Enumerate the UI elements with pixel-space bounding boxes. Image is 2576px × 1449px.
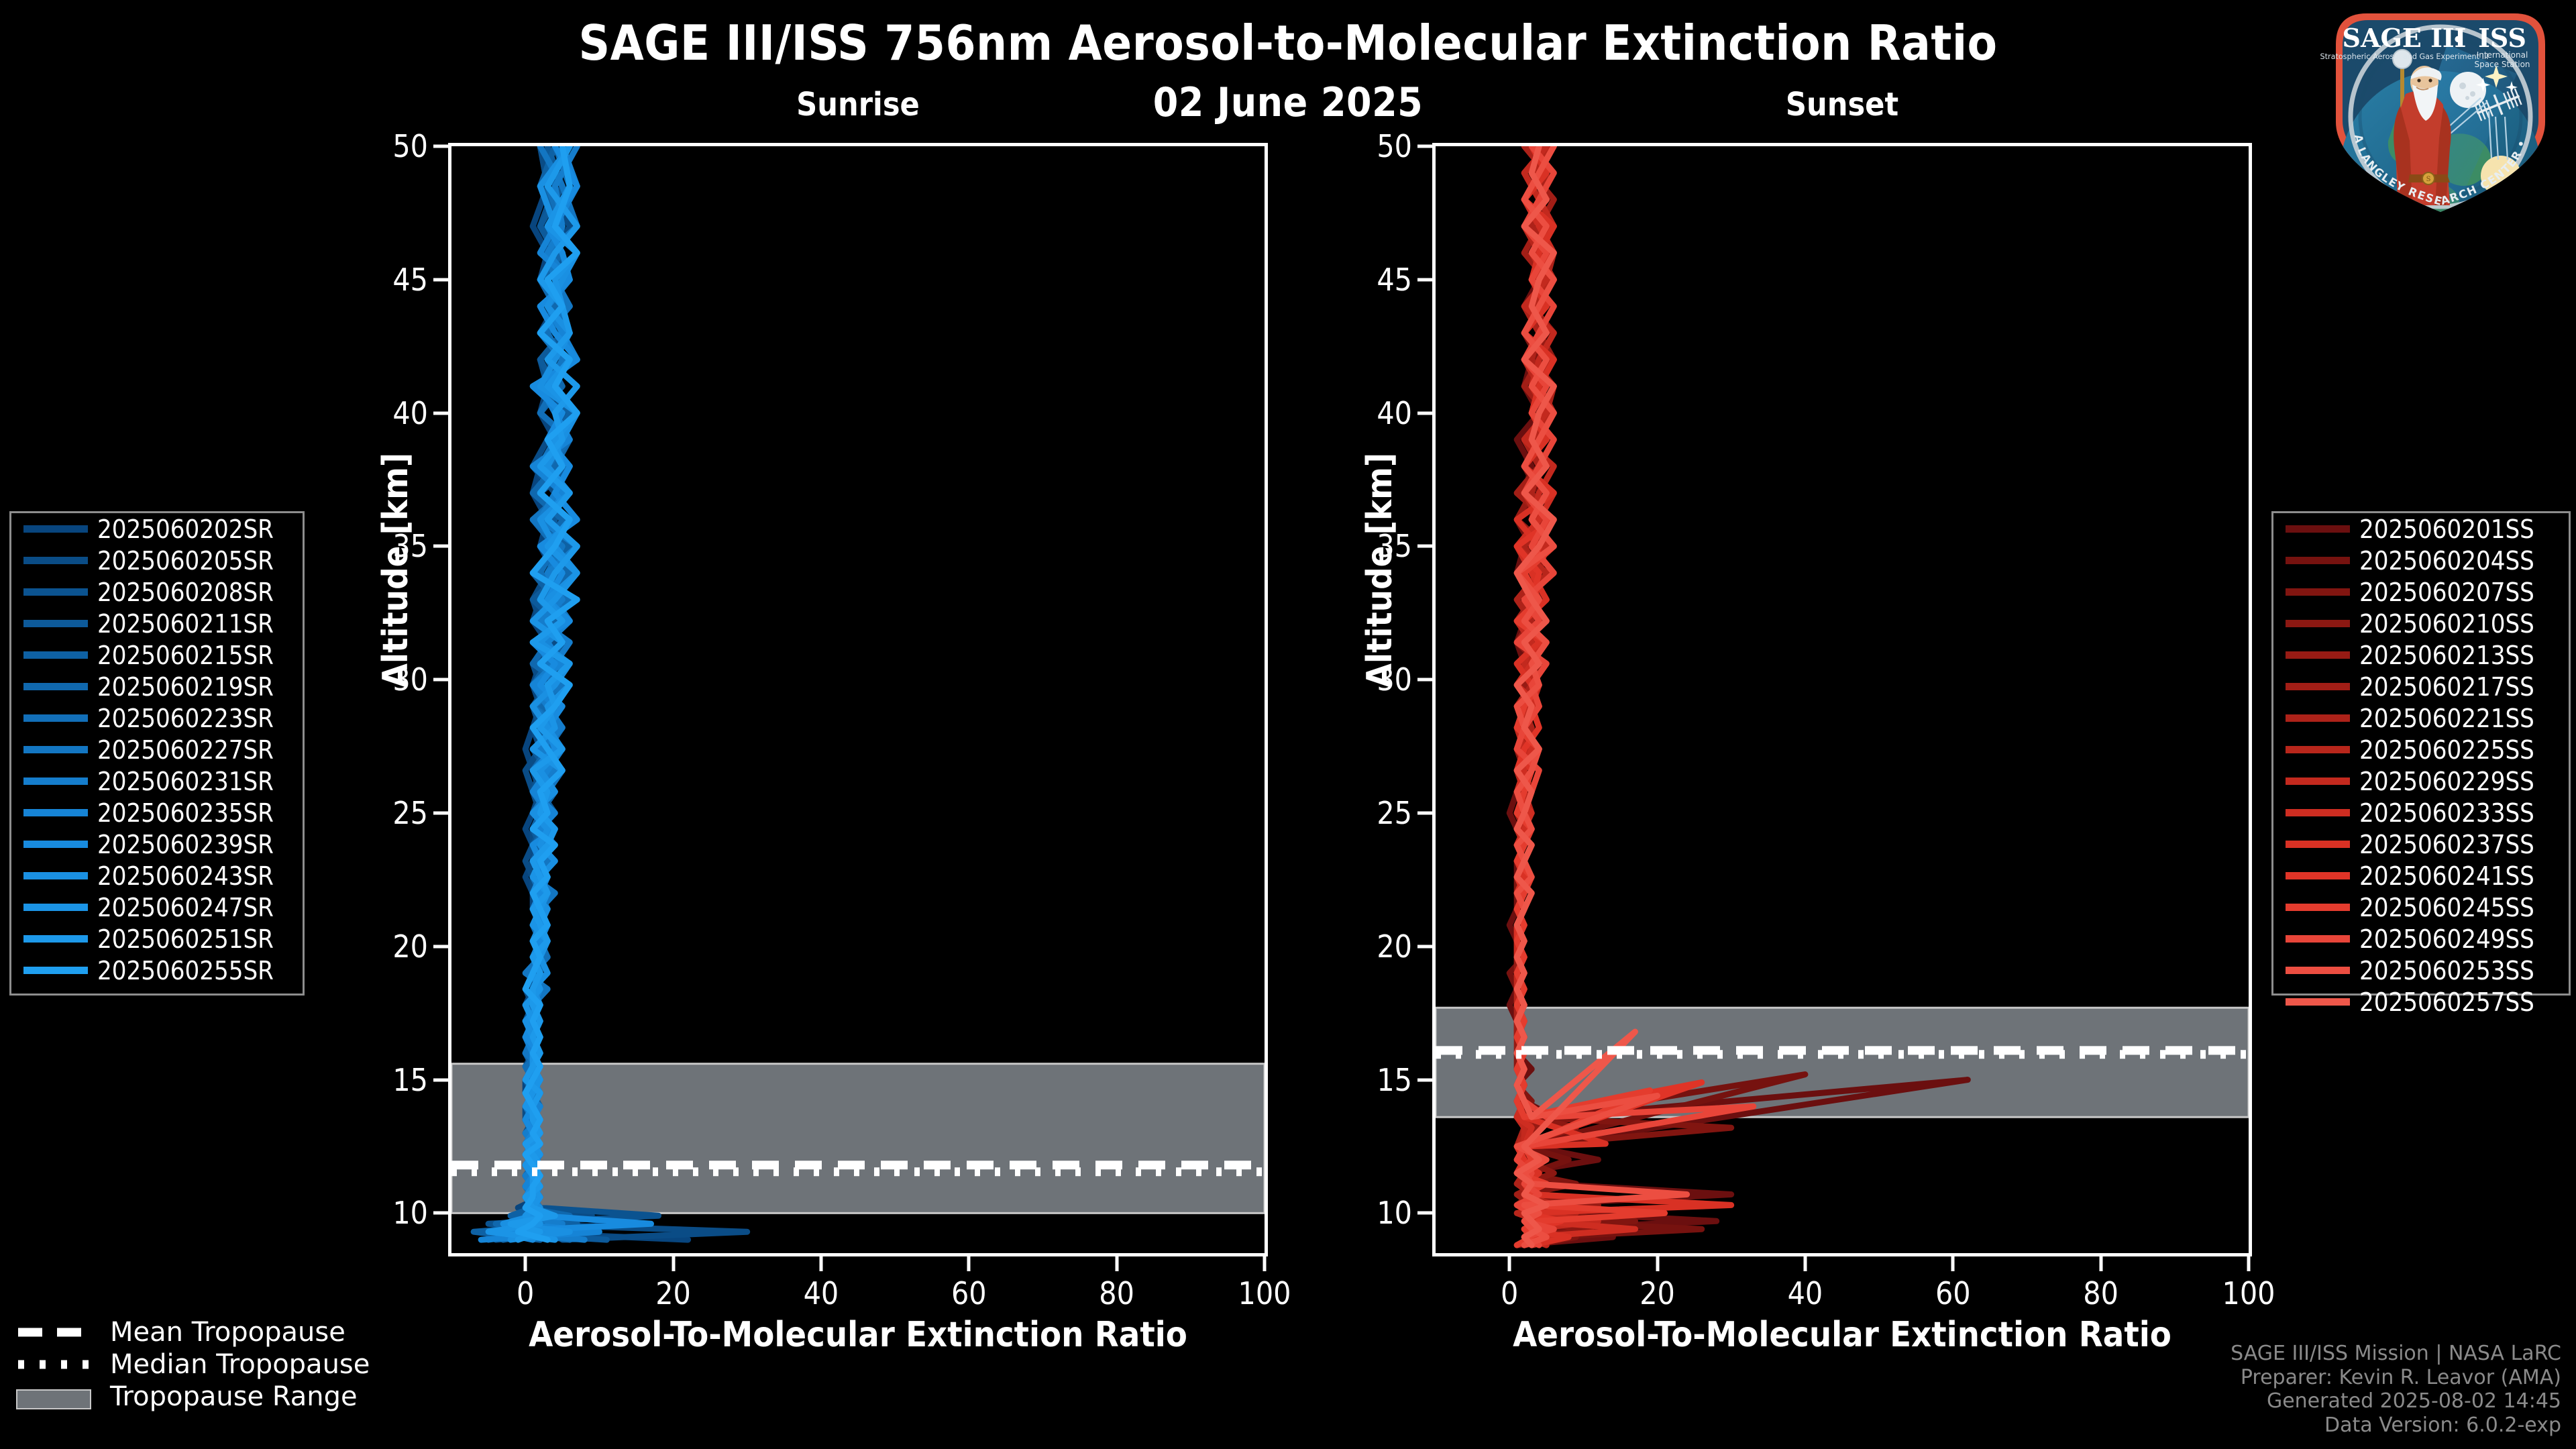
legend-item[interactable]: 2025060251SR — [11, 923, 303, 955]
credit-version: Data Version: 6.0.2-exp — [2231, 1413, 2561, 1437]
legend-color-swatch — [23, 777, 88, 785]
legend-item-label: 2025060235SR — [97, 798, 274, 828]
panel-label-sunrise: Sunrise — [448, 86, 1268, 123]
legend-item[interactable]: 2025060211SR — [11, 608, 303, 639]
legend-item-label: 2025060207SS — [2359, 578, 2534, 607]
legend-item[interactable]: 2025060247SR — [11, 892, 303, 923]
legend-item[interactable]: 2025060219SR — [11, 671, 303, 702]
legend-item-label: 2025060219SR — [97, 672, 274, 702]
x-tick-label: 80 — [2034, 1275, 2168, 1311]
x-tick-mark — [967, 1256, 971, 1271]
legend-item-label: 2025060233SS — [2359, 798, 2534, 828]
legend-color-swatch — [23, 557, 88, 564]
legend-color-swatch — [2286, 872, 2350, 879]
x-tick-label: 20 — [1591, 1275, 1725, 1311]
y-tick-mark — [1417, 545, 1432, 548]
median-tropopause-label: Median Tropopause — [110, 1349, 370, 1380]
y-tick-mark — [1417, 1078, 1432, 1081]
legend-item-label: 2025060257SS — [2359, 987, 2534, 1017]
logo-subtitle-iss-1: International — [2477, 50, 2528, 60]
y-tick-label: 50 — [1318, 128, 1412, 164]
legend-color-swatch — [23, 904, 88, 911]
legend-item[interactable]: 2025060215SR — [11, 639, 303, 671]
y-tick-label: 50 — [334, 128, 428, 164]
legend-item-label: 2025060249SS — [2359, 924, 2534, 954]
legend-item-label: 2025060247SR — [97, 893, 274, 922]
legend-color-swatch — [2286, 998, 2350, 1006]
median-tropopause-dot-icon — [16, 1357, 95, 1372]
y-axis-label-sunrise: Altitude [km] — [376, 268, 416, 872]
x-tick-mark — [1263, 1256, 1267, 1271]
logo-title-iss: ISS — [2478, 23, 2526, 53]
legend-item[interactable]: 2025060241SS — [2273, 860, 2569, 892]
legend-item[interactable]: 2025060245SS — [2273, 892, 2569, 923]
tropo-legend-mean-row: Mean Tropopause — [16, 1316, 370, 1348]
y-tick-mark — [433, 545, 448, 548]
y-tick-mark — [1417, 1212, 1432, 1215]
legend-item-label: 2025060201SS — [2359, 515, 2534, 544]
credit-mission: SAGE III/ISS Mission | NASA LaRC — [2231, 1342, 2561, 1365]
y-tick-mark — [1417, 945, 1432, 948]
x-tick-label: 100 — [1197, 1275, 1332, 1311]
y-tick-label: 20 — [334, 928, 428, 965]
legend-sunset[interactable]: 2025060201SS2025060204SS2025060207SS2025… — [2271, 511, 2571, 996]
panel-label-sunset: Sunset — [1432, 86, 2252, 123]
legend-item-label: 2025060229SS — [2359, 767, 2534, 796]
y-tick-mark — [1417, 411, 1432, 415]
legend-color-swatch — [2286, 714, 2350, 722]
legend-item-label: 2025060251SR — [97, 924, 274, 954]
legend-item[interactable]: 2025060201SS — [2273, 513, 2569, 545]
legend-color-swatch — [23, 746, 88, 753]
x-tick-mark — [1803, 1256, 1807, 1271]
x-tick-label: 40 — [1738, 1275, 1872, 1311]
legend-color-swatch — [23, 967, 88, 974]
legend-color-swatch — [23, 651, 88, 659]
y-tick-mark — [433, 1078, 448, 1081]
x-tick-label: 20 — [606, 1275, 741, 1311]
legend-item-label: 2025060255SR — [97, 956, 274, 985]
x-tick-mark — [1508, 1256, 1511, 1271]
legend-color-swatch — [2286, 904, 2350, 911]
legend-item[interactable]: 2025060233SS — [2273, 797, 2569, 828]
legend-item[interactable]: 2025060205SR — [11, 545, 303, 576]
plot-area-sunrise — [448, 143, 1268, 1256]
x-tick-label: 40 — [754, 1275, 888, 1311]
legend-color-swatch — [2286, 809, 2350, 816]
x-tick-mark — [1656, 1256, 1659, 1271]
y-tick-label: 15 — [1318, 1062, 1412, 1098]
legend-item[interactable]: 2025060255SR — [11, 955, 303, 986]
legend-sunrise[interactable]: 2025060202SR2025060205SR2025060208SR2025… — [9, 511, 305, 996]
y-tick-mark — [1417, 278, 1432, 281]
legend-item[interactable]: 2025060204SS — [2273, 545, 2569, 576]
x-tick-label: 100 — [2182, 1275, 2316, 1311]
y-tick-mark — [1417, 678, 1432, 682]
x-tick-mark — [1951, 1256, 1955, 1271]
legend-item[interactable]: 2025060207SS — [2273, 576, 2569, 608]
tropopause-range-swatch-icon — [16, 1389, 95, 1404]
y-tick-label: 10 — [334, 1195, 428, 1231]
legend-item[interactable]: 2025060235SR — [11, 797, 303, 828]
page-title: SAGE III/ISS 756nm Aerosol-to-Molecular … — [0, 15, 2576, 71]
x-tick-label: 0 — [1442, 1275, 1576, 1311]
legend-color-swatch — [23, 809, 88, 816]
x-tick-label: 80 — [1050, 1275, 1184, 1311]
credit-preparer: Preparer: Kevin R. Leavor (AMA) — [2231, 1366, 2561, 1389]
y-tick-mark — [433, 411, 448, 415]
legend-color-swatch — [2286, 620, 2350, 627]
legend-item-label: 2025060213SS — [2359, 641, 2534, 670]
x-tick-mark — [1115, 1256, 1118, 1271]
y-tick-mark — [433, 811, 448, 814]
legend-item[interactable]: 2025060237SS — [2273, 828, 2569, 860]
credit-generated: Generated 2025-08-02 14:45 — [2231, 1389, 2561, 1413]
x-axis-label-sunrise: Aerosol-To-Molecular Extinction Ratio — [448, 1315, 1268, 1355]
x-tick-label: 60 — [1886, 1275, 2020, 1311]
legend-color-swatch — [2286, 777, 2350, 785]
legend-item-label: 2025060205SR — [97, 546, 274, 576]
mean-tropopause-label: Mean Tropopause — [110, 1317, 345, 1348]
legend-color-swatch — [2286, 841, 2350, 848]
legend-item-label: 2025060204SS — [2359, 546, 2534, 576]
legend-item[interactable]: 2025060223SR — [11, 702, 303, 734]
y-tick-mark — [1417, 145, 1432, 148]
legend-color-swatch — [2286, 557, 2350, 564]
legend-item[interactable]: 2025060229SS — [2273, 765, 2569, 797]
svg-text:S: S — [2426, 176, 2431, 183]
mean-tropopause-dash-icon — [16, 1325, 95, 1340]
plot-area-sunset — [1432, 143, 2252, 1256]
y-axis-label-sunset: Altitude [km] — [1360, 268, 1400, 872]
legend-color-swatch — [23, 935, 88, 943]
x-tick-mark — [672, 1256, 675, 1271]
legend-item[interactable]: 2025060253SS — [2273, 955, 2569, 986]
legend-item[interactable]: 2025060217SS — [2273, 671, 2569, 702]
legend-item-label: 2025060223SR — [97, 704, 274, 733]
legend-item-label: 2025060210SS — [2359, 609, 2534, 639]
legend-item-label: 2025060215SR — [97, 641, 274, 670]
legend-color-swatch — [23, 714, 88, 722]
tropopause-legend: Mean Tropopause Median Tropopause Tropop… — [16, 1316, 370, 1413]
legend-item-label: 2025060227SR — [97, 735, 274, 765]
legend-item-label: 2025060243SR — [97, 861, 274, 891]
legend-color-swatch — [23, 588, 88, 596]
y-tick-mark — [433, 278, 448, 281]
legend-color-swatch — [23, 841, 88, 848]
legend-item-label: 2025060221SS — [2359, 704, 2534, 733]
y-tick-mark — [433, 145, 448, 148]
sage-iii-iss-mission-patch-logo: S BALL • NASA LANGLEY RESEARCH CENTER • … — [2316, 4, 2565, 217]
figure-canvas: SAGE III/ISS 756nm Aerosol-to-Molecular … — [0, 0, 2576, 1449]
legend-item-label: 2025060241SS — [2359, 861, 2534, 891]
credits-block: SAGE III/ISS Mission | NASA LaRC Prepare… — [2231, 1342, 2561, 1437]
legend-item-label: 2025060202SR — [97, 515, 274, 544]
y-tick-label: 10 — [1318, 1195, 1412, 1231]
x-axis-label-sunset: Aerosol-To-Molecular Extinction Ratio — [1432, 1315, 2252, 1355]
legend-item[interactable]: 2025060249SS — [2273, 923, 2569, 955]
legend-color-swatch — [23, 683, 88, 690]
legend-item[interactable]: 2025060208SR — [11, 576, 303, 608]
legend-color-swatch — [23, 872, 88, 879]
legend-item[interactable]: 2025060257SS — [2273, 986, 2569, 1018]
legend-item[interactable]: 2025060231SR — [11, 765, 303, 797]
legend-item[interactable]: 2025060239SR — [11, 828, 303, 860]
legend-color-swatch — [2286, 525, 2350, 533]
y-tick-mark — [1417, 811, 1432, 814]
tropopause-range-band — [451, 1064, 1265, 1214]
legend-item-label: 2025060237SS — [2359, 830, 2534, 859]
y-tick-label: 20 — [1318, 928, 1412, 965]
legend-item[interactable]: 2025060225SS — [2273, 734, 2569, 765]
legend-item-label: 2025060217SS — [2359, 672, 2534, 702]
logo-subtitle-iss-2: Space Station — [2474, 60, 2530, 69]
legend-color-swatch — [23, 525, 88, 533]
legend-color-swatch — [2286, 935, 2350, 943]
legend-item[interactable]: 2025060202SR — [11, 513, 303, 545]
legend-color-swatch — [2286, 588, 2350, 596]
legend-item-label: 2025060225SS — [2359, 735, 2534, 765]
legend-item[interactable]: 2025060227SR — [11, 734, 303, 765]
legend-item-label: 2025060231SR — [97, 767, 274, 796]
legend-color-swatch — [2286, 683, 2350, 690]
legend-color-swatch — [2286, 967, 2350, 974]
logo-title-main: SAGE III — [2343, 23, 2467, 53]
logo-subtitle-sage: Stratospheric Aerosol and Gas Experiment… — [2320, 52, 2489, 61]
x-tick-mark — [2247, 1256, 2251, 1271]
tropopause-range-label: Tropopause Range — [110, 1381, 358, 1412]
legend-item-label: 2025060208SR — [97, 578, 274, 607]
legend-color-swatch — [23, 620, 88, 627]
legend-item-label: 2025060211SR — [97, 609, 274, 639]
legend-item-label: 2025060253SS — [2359, 956, 2534, 985]
legend-item[interactable]: 2025060210SS — [2273, 608, 2569, 639]
x-tick-mark — [819, 1256, 822, 1271]
x-tick-label: 0 — [458, 1275, 592, 1311]
x-tick-mark — [2099, 1256, 2102, 1271]
tropo-legend-range-row: Tropopause Range — [16, 1381, 370, 1413]
legend-color-swatch — [2286, 746, 2350, 753]
x-tick-mark — [524, 1256, 527, 1271]
tropo-legend-median-row: Median Tropopause — [16, 1348, 370, 1381]
legend-item[interactable]: 2025060213SS — [2273, 639, 2569, 671]
legend-item-label: 2025060245SS — [2359, 893, 2534, 922]
y-tick-mark — [433, 945, 448, 948]
legend-item[interactable]: 2025060243SR — [11, 860, 303, 892]
logo-title-dot: • — [2453, 30, 2464, 50]
y-tick-mark — [433, 1212, 448, 1215]
y-tick-mark — [433, 678, 448, 682]
legend-item[interactable]: 2025060221SS — [2273, 702, 2569, 734]
x-tick-label: 60 — [902, 1275, 1036, 1311]
legend-item-label: 2025060239SR — [97, 830, 274, 859]
y-tick-label: 15 — [334, 1062, 428, 1098]
legend-color-swatch — [2286, 651, 2350, 659]
